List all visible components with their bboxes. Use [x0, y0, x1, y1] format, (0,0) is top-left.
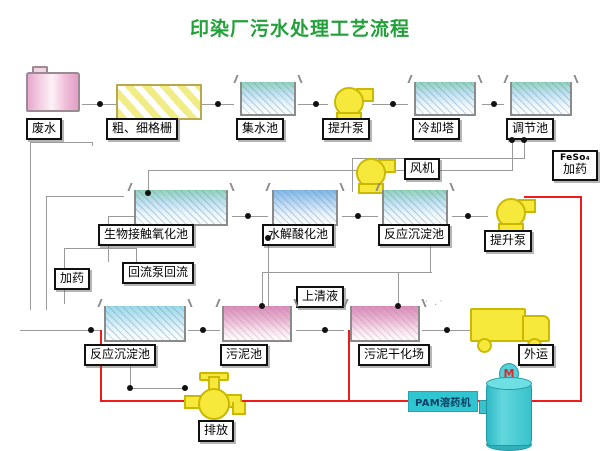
node-lift-pump-2[interactable]: [492, 196, 538, 232]
junction-dot: [127, 385, 133, 391]
junction-dot: [355, 213, 361, 219]
pool-lip-left: [233, 75, 238, 83]
return-line: [30, 142, 92, 143]
node-reaction-sedimentation-1[interactable]: [382, 190, 448, 226]
pump-base: [358, 183, 384, 194]
node-lift-pump-1[interactable]: [330, 85, 376, 121]
pool-lip-left: [127, 183, 132, 191]
pool-lip-left: [97, 299, 102, 307]
reflux-line: [108, 216, 134, 217]
valve-body: [198, 388, 230, 420]
label-sludge-drying-field: 污泥干化场: [358, 344, 430, 366]
pool-lip-left: [407, 75, 412, 83]
tank-body: [26, 72, 80, 112]
reflux-line: [46, 196, 124, 197]
feso4-label: 加药: [563, 162, 587, 176]
valve-spout-down: [232, 402, 246, 415]
node-pam-dosing-machine[interactable]: M: [486, 372, 530, 450]
junction-dot: [322, 327, 328, 333]
label-bar-screen: 粗、细格栅: [106, 118, 178, 140]
junction-dot: [521, 137, 527, 143]
junction-dot: [97, 101, 103, 107]
chemical-line: [100, 330, 102, 402]
reflux-line: [64, 248, 136, 249]
truck-cargo-box: [470, 308, 526, 342]
label-lift-pump-2: 提升泵: [484, 230, 532, 252]
node-reaction-sedimentation-2[interactable]: [104, 306, 186, 342]
pool-water: [240, 82, 296, 116]
truck-wheel: [477, 338, 492, 353]
junction-dot: [245, 213, 251, 219]
pool-lip-left: [503, 75, 508, 83]
tank-body: [486, 382, 532, 446]
node-hydrolysis-acidification[interactable]: [272, 190, 338, 226]
pool-lip-right: [187, 299, 192, 307]
flow-line: [296, 330, 344, 331]
label-blower: 风机: [404, 158, 440, 180]
pool-water: [272, 190, 338, 226]
pool-lip-left: [343, 299, 348, 307]
chemical-line: [580, 196, 582, 402]
sludge-line: [262, 272, 432, 273]
reflux-line: [46, 196, 47, 310]
junction-dot: [465, 213, 471, 219]
tank-top: [486, 377, 532, 390]
return-line: [92, 142, 93, 146]
junction-dot: [182, 385, 188, 391]
junction-dot: [390, 101, 396, 107]
pool-lip-right: [573, 75, 578, 83]
discharge-line: [130, 388, 188, 389]
junction-dot: [265, 235, 271, 241]
pool-lip-right: [477, 75, 482, 83]
label-transport-out: 外运: [518, 344, 554, 366]
node-regulating-pool[interactable]: [510, 82, 572, 116]
label-wastewater: 废水: [26, 118, 62, 140]
aeration-line: [148, 170, 149, 192]
pool-water: [222, 306, 292, 342]
node-discharge-valve[interactable]: [186, 378, 244, 420]
junction-dot: [313, 101, 319, 107]
node-blower[interactable]: [352, 156, 398, 192]
junction-dot: [509, 137, 515, 143]
label-sludge-pool: 污泥池: [220, 344, 268, 366]
label-dosing-left: 加药: [54, 268, 90, 290]
node-sludge-pool[interactable]: [222, 306, 292, 342]
pool-water: [510, 82, 572, 116]
label-hydrolysis-acidification: 水解酸化池: [262, 224, 334, 246]
pool-lip-left: [265, 183, 270, 191]
pool-lip-right: [449, 183, 454, 191]
pool-lip-left: [215, 299, 220, 307]
splash-marks: ˙ ·˙: [424, 300, 444, 311]
label-reaction-sedimentation-2: 反应沉淀池: [84, 344, 156, 366]
label-pam-dosing-machine: PAM溶药机: [408, 391, 478, 412]
label-collect-pool: 集水池: [236, 118, 284, 140]
pool-water: [104, 306, 186, 342]
label-reaction-sedimentation-1: 反应沉淀池: [378, 224, 450, 246]
return-line: [30, 142, 31, 310]
sludge-line: [262, 272, 263, 306]
label-bio-contact-oxidation: 生物接触氧化池: [98, 224, 194, 246]
junction-dot: [200, 327, 206, 333]
label-lift-pump-1: 提升泵: [322, 118, 370, 140]
label-cooling-tower: 冷却塔: [412, 118, 460, 140]
process-flow-diagram: 印染厂污水处理工艺流程: [0, 0, 600, 450]
page-title: 印染厂污水处理工艺流程: [0, 14, 600, 41]
node-bar-screen[interactable]: [116, 84, 202, 120]
flow-line: [512, 140, 513, 170]
label-discharge: 排放: [198, 420, 234, 442]
pool-water: [414, 82, 476, 116]
pool-lip-right: [297, 75, 302, 83]
junction-dot: [491, 101, 497, 107]
label-reflux-pump-return: 回流泵回流: [122, 262, 194, 284]
junction-dot: [259, 303, 265, 309]
pool-lip-right: [229, 183, 234, 191]
node-collect-pool[interactable]: [240, 82, 296, 116]
junction-dot: [88, 327, 94, 333]
node-cooling-tower[interactable]: [414, 82, 476, 116]
pool-lip-right: [339, 183, 344, 191]
junction-dot: [444, 327, 450, 333]
junction-dot: [145, 190, 151, 196]
junction-dot: [215, 101, 221, 107]
pool-water: [382, 190, 448, 226]
node-wastewater[interactable]: [26, 72, 80, 112]
aeration-line: [148, 170, 360, 171]
node-sludge-drying-field[interactable]: [350, 306, 420, 342]
junction-dot: [395, 303, 401, 309]
label-feso4-dosing: FeSo₄ 加药: [552, 150, 598, 181]
pool-water: [350, 306, 420, 342]
label-supernatant: 上清液: [296, 286, 344, 308]
